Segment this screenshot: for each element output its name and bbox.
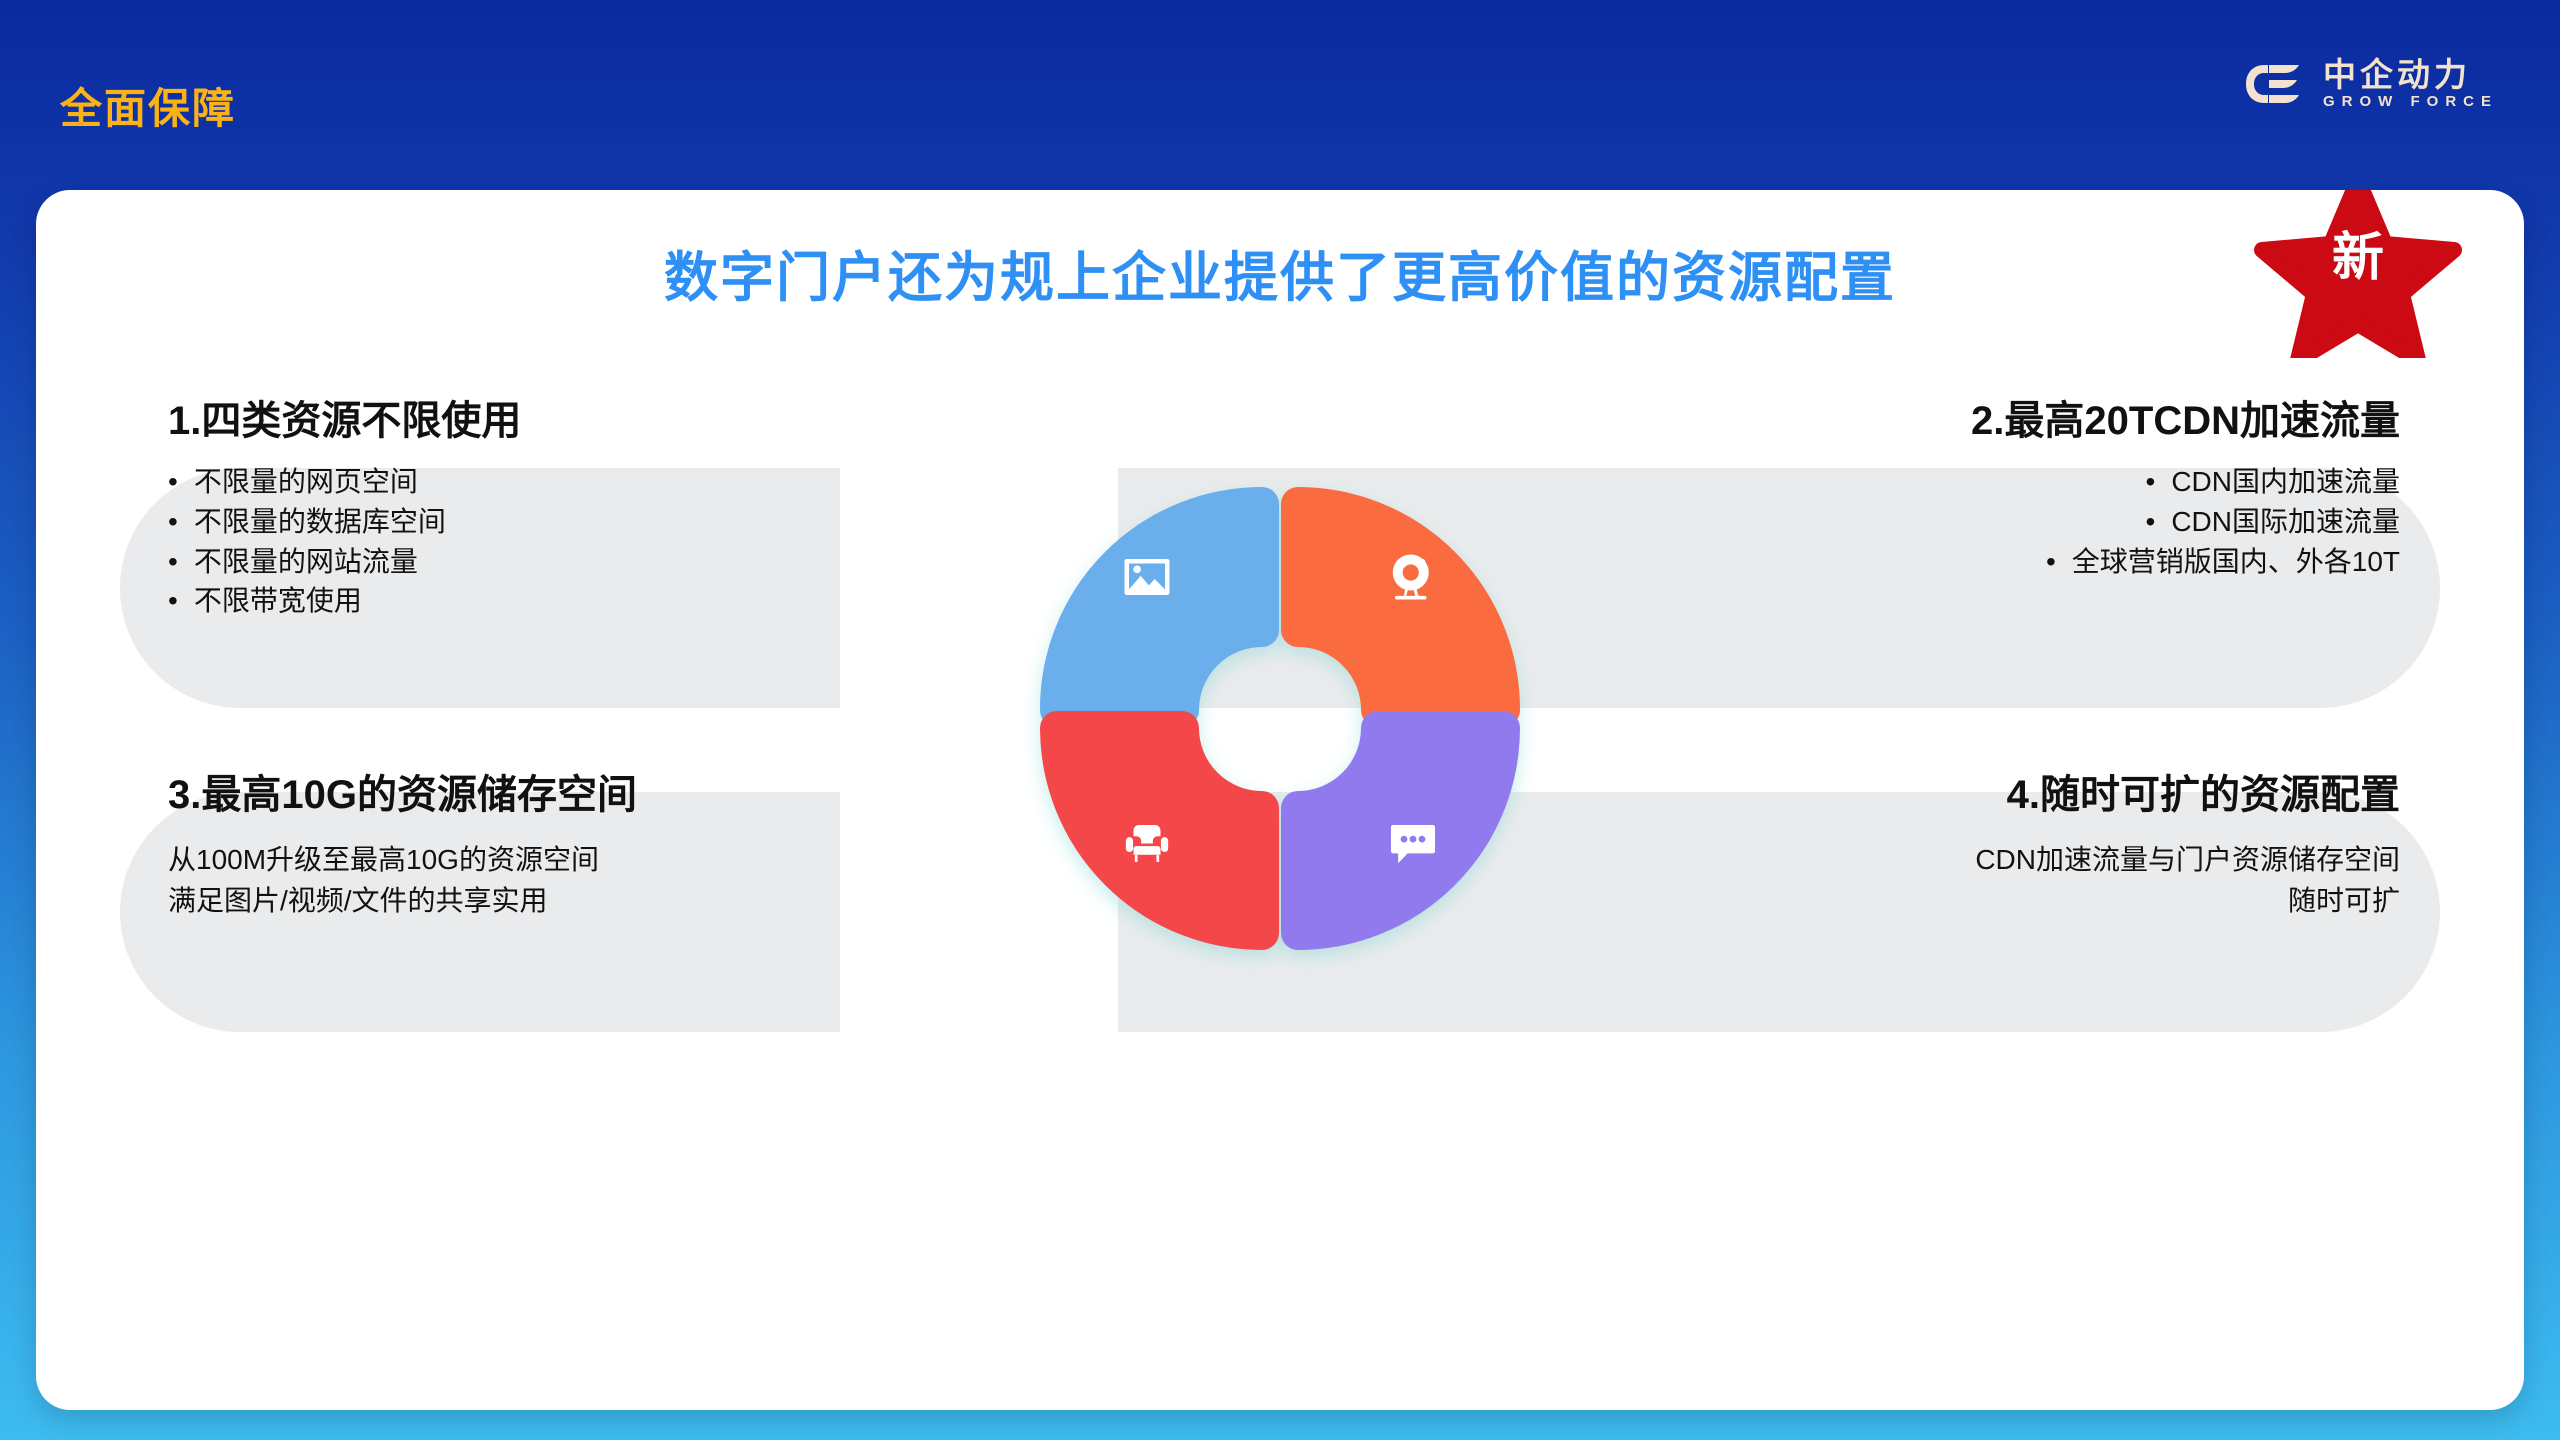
list-item-label: 不限量的数据库空间 <box>194 502 446 542</box>
bullet-glyph: • <box>168 542 178 582</box>
body-line: CDN加速流量与门户资源储存空间 <box>1580 840 2400 881</box>
bullet-glyph: • <box>168 502 178 542</box>
donut-segment-1[interactable] <box>1057 504 1262 710</box>
list-item: •不限量的网页空间 <box>168 462 808 502</box>
brand-logo: 中企动力 GROW FORCE <box>2233 58 2498 109</box>
bullet-glyph: • <box>168 462 178 502</box>
list-item: •不限量的网站流量 <box>168 542 808 582</box>
list-item-label: CDN国内加速流量 <box>2171 462 2400 502</box>
bullet-glyph: • <box>2146 462 2156 502</box>
badge-label: 新 <box>2254 232 2462 284</box>
webcam-icon <box>1386 550 1440 604</box>
logo-en-text: GROW FORCE <box>2323 94 2498 109</box>
quadrant-2-list: •CDN国内加速流量 •CDN国际加速流量 •全球营销版国内、外各10T <box>1580 462 2400 581</box>
body-line: 随时可扩 <box>1580 881 2400 922</box>
quadrant-3: 3.最高10G的资源储存空间 从100M升级至最高10G的资源空间 满足图片/视… <box>168 772 848 921</box>
chat-bubble-icon <box>1386 816 1440 870</box>
quadrant-4: 4.随时可扩的资源配置 CDN加速流量与门户资源储存空间 随时可扩 <box>1580 772 2400 921</box>
quadrant-1-heading: 1.四类资源不限使用 <box>168 398 808 444</box>
bullet-glyph: • <box>2046 542 2056 582</box>
donut-diagram <box>1040 470 1520 950</box>
list-item: •不限量的数据库空间 <box>168 502 808 542</box>
quadrant-4-body: CDN加速流量与门户资源储存空间 随时可扩 <box>1580 840 2400 921</box>
logo-cn-text: 中企动力 <box>2323 58 2498 91</box>
image-icon <box>1120 550 1174 604</box>
list-item: •全球营销版国内、外各10T <box>1580 542 2400 582</box>
list-item: •CDN国内加速流量 <box>1580 462 2400 502</box>
list-item-label: CDN国际加速流量 <box>2171 502 2400 542</box>
quadrant-3-body: 从100M升级至最高10G的资源空间 满足图片/视频/文件的共享实用 <box>168 840 848 921</box>
quadrant-4-heading: 4.随时可扩的资源配置 <box>1580 772 2400 818</box>
quadrant-2-heading: 2.最高20TCDN加速流量 <box>1580 398 2400 444</box>
list-item-label: 不限量的网页空间 <box>194 462 418 502</box>
quadrant-1: 1.四类资源不限使用 •不限量的网页空间 •不限量的数据库空间 •不限量的网站流… <box>168 398 808 621</box>
bullet-glyph: • <box>168 581 178 621</box>
body-line: 从100M升级至最高10G的资源空间 <box>168 840 848 881</box>
list-item: •不限带宽使用 <box>168 581 808 621</box>
list-item-label: 不限量的网站流量 <box>194 542 418 582</box>
header-title: 全面保障 <box>60 88 236 130</box>
list-item: •CDN国际加速流量 <box>1580 502 2400 542</box>
quadrant-2: 2.最高20TCDN加速流量 •CDN国内加速流量 •CDN国际加速流量 •全球… <box>1580 398 2400 581</box>
new-star-badge: 新 <box>2254 190 2462 358</box>
ce-logo-icon <box>2233 61 2305 107</box>
bullet-glyph: • <box>2146 502 2156 542</box>
donut-segment-2[interactable] <box>1298 504 1503 710</box>
quadrant-3-heading: 3.最高10G的资源储存空间 <box>168 772 848 818</box>
quadrant-1-list: •不限量的网页空间 •不限量的数据库空间 •不限量的网站流量 •不限带宽使用 <box>168 462 808 621</box>
page-title: 数字门户还为规上企业提供了更高价值的资源配置 <box>36 246 2524 311</box>
content-card: 数字门户还为规上企业提供了更高价值的资源配置 新 1.四类资源不限使用 •不限量… <box>36 190 2524 1410</box>
list-item-label: 不限带宽使用 <box>194 581 362 621</box>
body-line: 满足图片/视频/文件的共享实用 <box>168 881 848 922</box>
armchair-icon <box>1120 816 1174 870</box>
list-item-label: 全球营销版国内、外各10T <box>2072 542 2400 582</box>
